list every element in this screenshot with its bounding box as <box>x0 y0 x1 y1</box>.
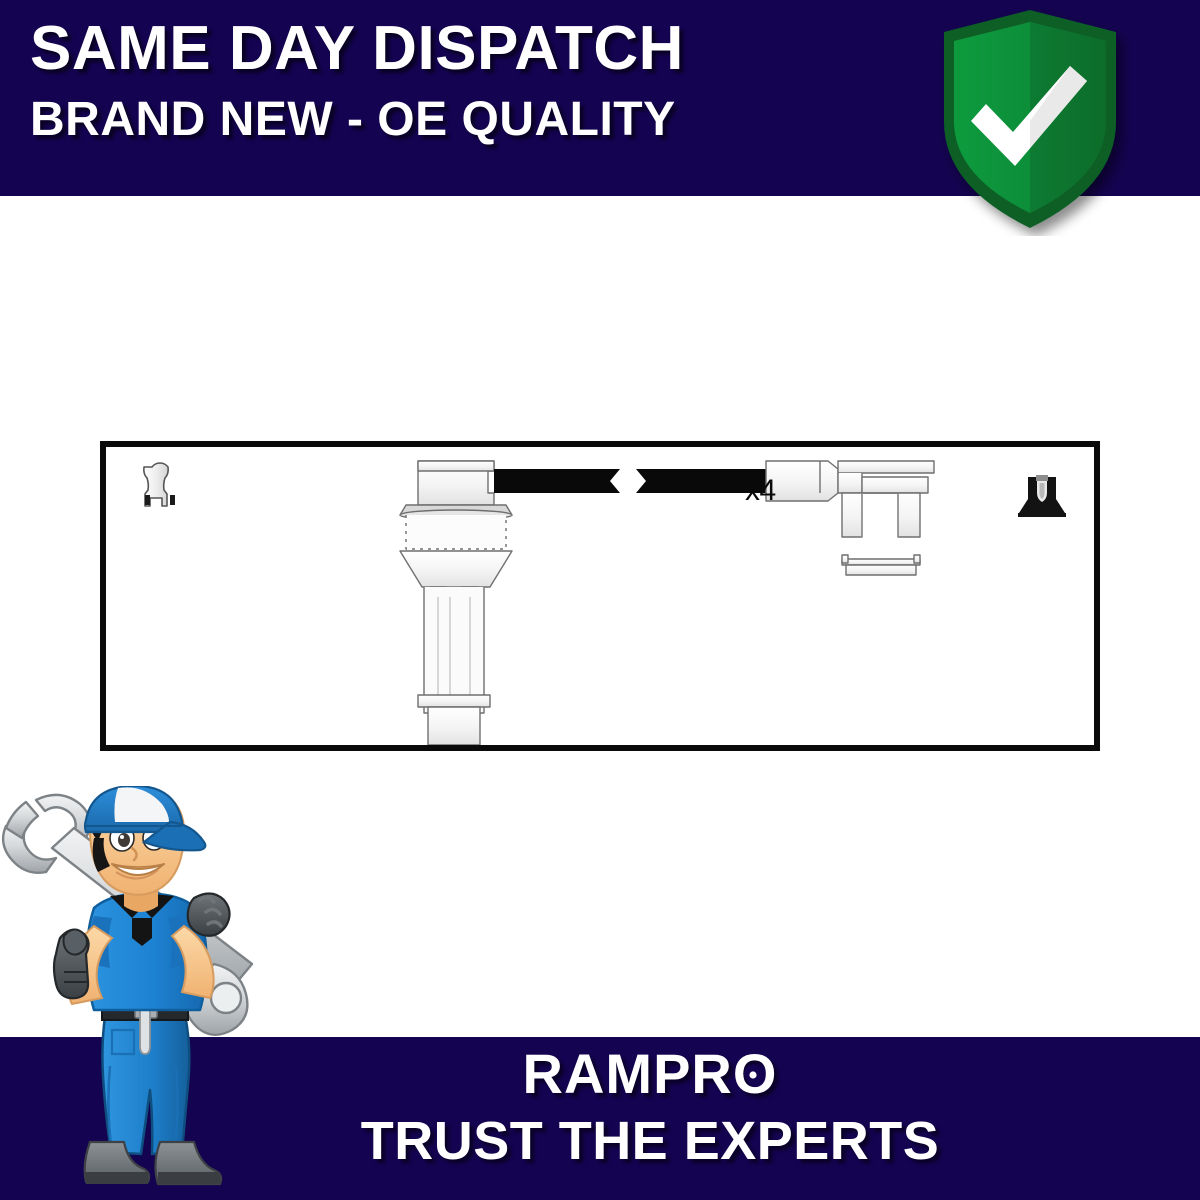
header-headline: SAME DAY DISPATCH <box>30 18 684 80</box>
quantity-label: x4 <box>745 474 776 508</box>
ignition-lead-set-diagram <box>106 447 1094 745</box>
ignition-lead-boot-icon <box>1014 465 1070 527</box>
mechanic-mascot <box>0 786 258 1200</box>
brand-name-text: RAMPRO <box>523 1042 778 1105</box>
header-text-block: SAME DAY DISPATCH BRAND NEW - OE QUALITY <box>30 18 684 144</box>
brand-tagline: TRUST THE EXPERTS <box>100 1114 1200 1168</box>
spark-plug-cap-icon <box>132 459 188 521</box>
shield-check-icon <box>930 4 1130 236</box>
header-subheadline: BRAND NEW - OE QUALITY <box>30 96 684 144</box>
product-image-frame: x4 <box>100 441 1100 751</box>
gear-icon <box>740 1062 766 1088</box>
brand-name: RAMPRO <box>523 1046 778 1102</box>
